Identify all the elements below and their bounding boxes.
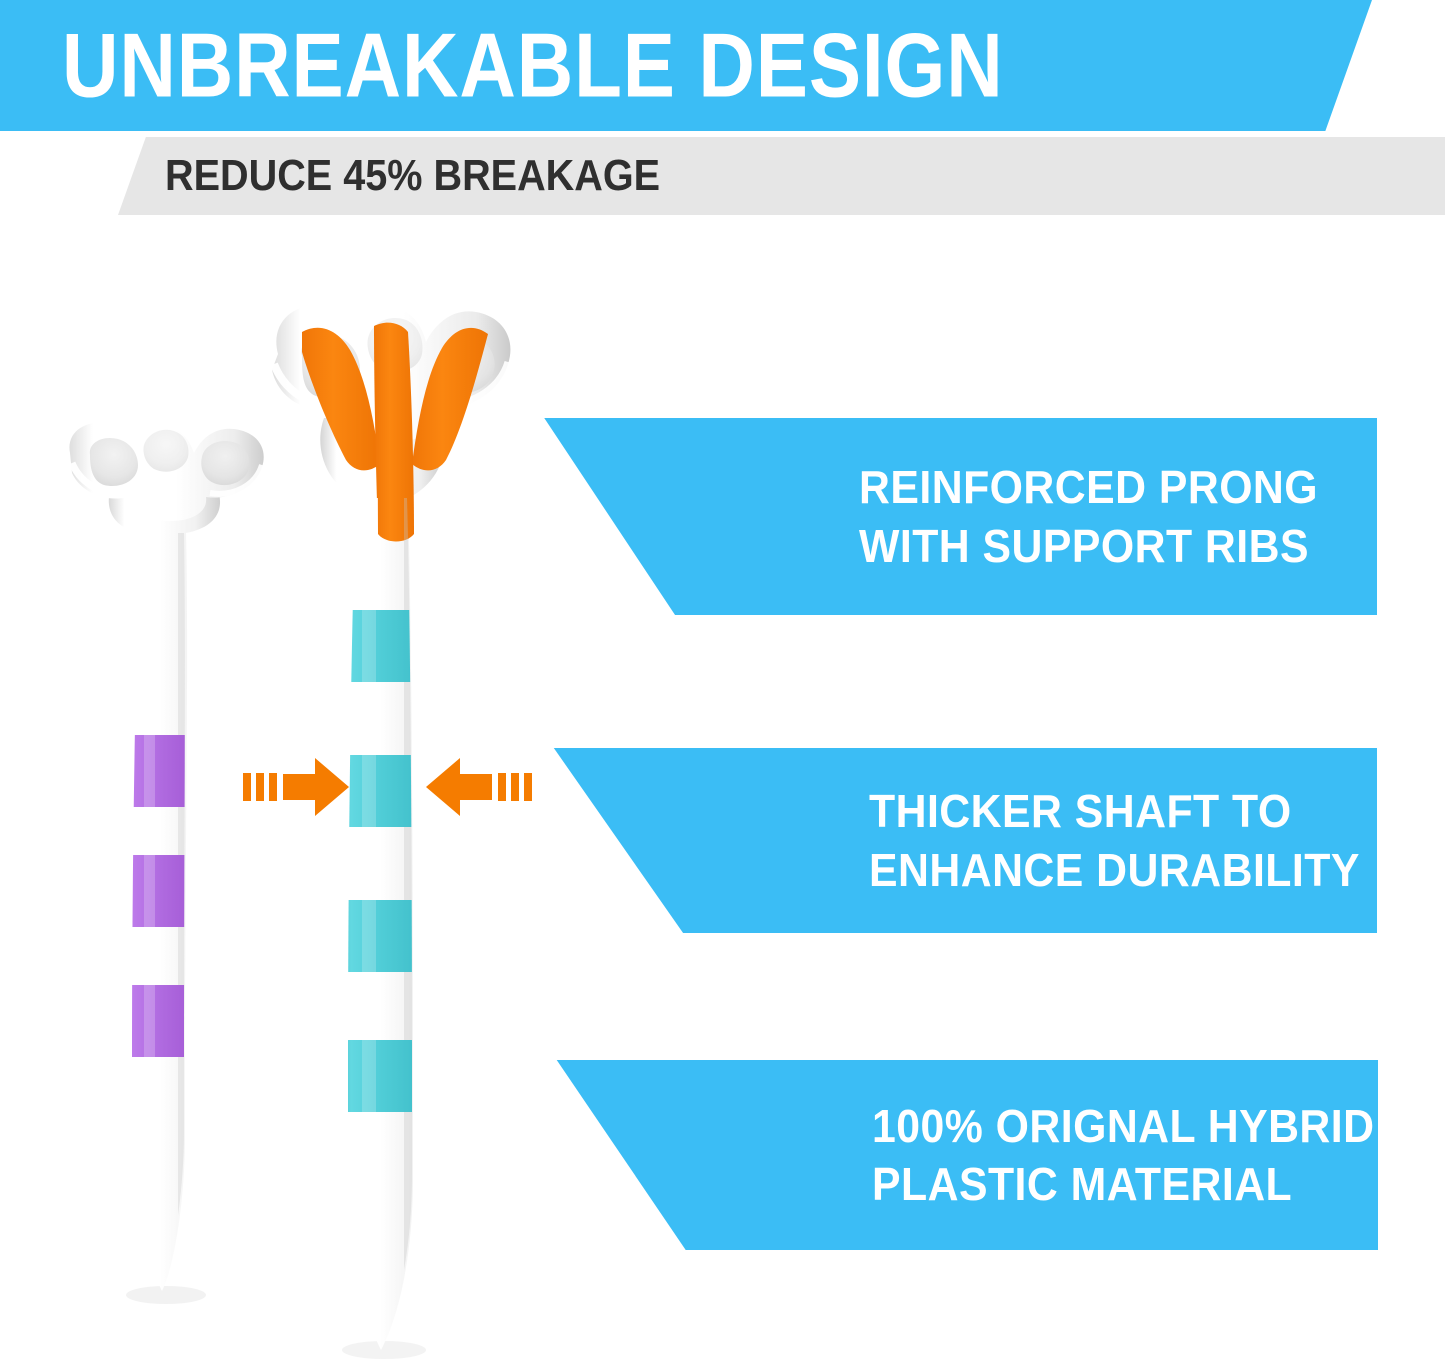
callout-2-line-2: ENHANCE DURABILITY: [869, 841, 1341, 899]
title-banner-shape: UNBREAKABLE DESIGN: [0, 0, 1372, 131]
standard-golf-tee: [58, 415, 288, 1315]
compression-arrow-right: [424, 752, 532, 827]
callout-2-line-1: THICKER SHAFT TO: [869, 782, 1341, 840]
callout-1-line-1: REINFORCED PRONG: [859, 458, 1341, 516]
callout-3-line-1: 100% ORIGNAL HYBRID: [872, 1097, 1343, 1155]
callout-reinforced-prong: REINFORCED PRONG WITH SUPPORT RIBS: [505, 418, 1377, 615]
page-title: UNBREAKABLE DESIGN: [62, 20, 1004, 111]
callout-1-line-2: WITH SUPPORT RIBS: [859, 517, 1341, 575]
callout-hybrid-plastic: 100% ORIGNAL HYBRID PLASTIC MATERIAL: [518, 1060, 1378, 1250]
subtitle-text: REDUCE 45% BREAKAGE: [165, 141, 975, 211]
arrow-dashes-right: [498, 773, 532, 801]
arrow-head-right: [426, 758, 492, 816]
compression-arrow-left: [243, 752, 351, 827]
arrow-head-left: [283, 758, 349, 816]
infographic-canvas: REDUCE 45% BREAKAGE UNBREAKABLE DESIGN: [0, 0, 1445, 1368]
arrow-dashes-left: [243, 773, 277, 801]
callout-3-line-2: PLASTIC MATERIAL: [872, 1155, 1343, 1213]
callout-thicker-shaft: THICKER SHAFT TO ENHANCE DURABILITY: [515, 748, 1377, 933]
